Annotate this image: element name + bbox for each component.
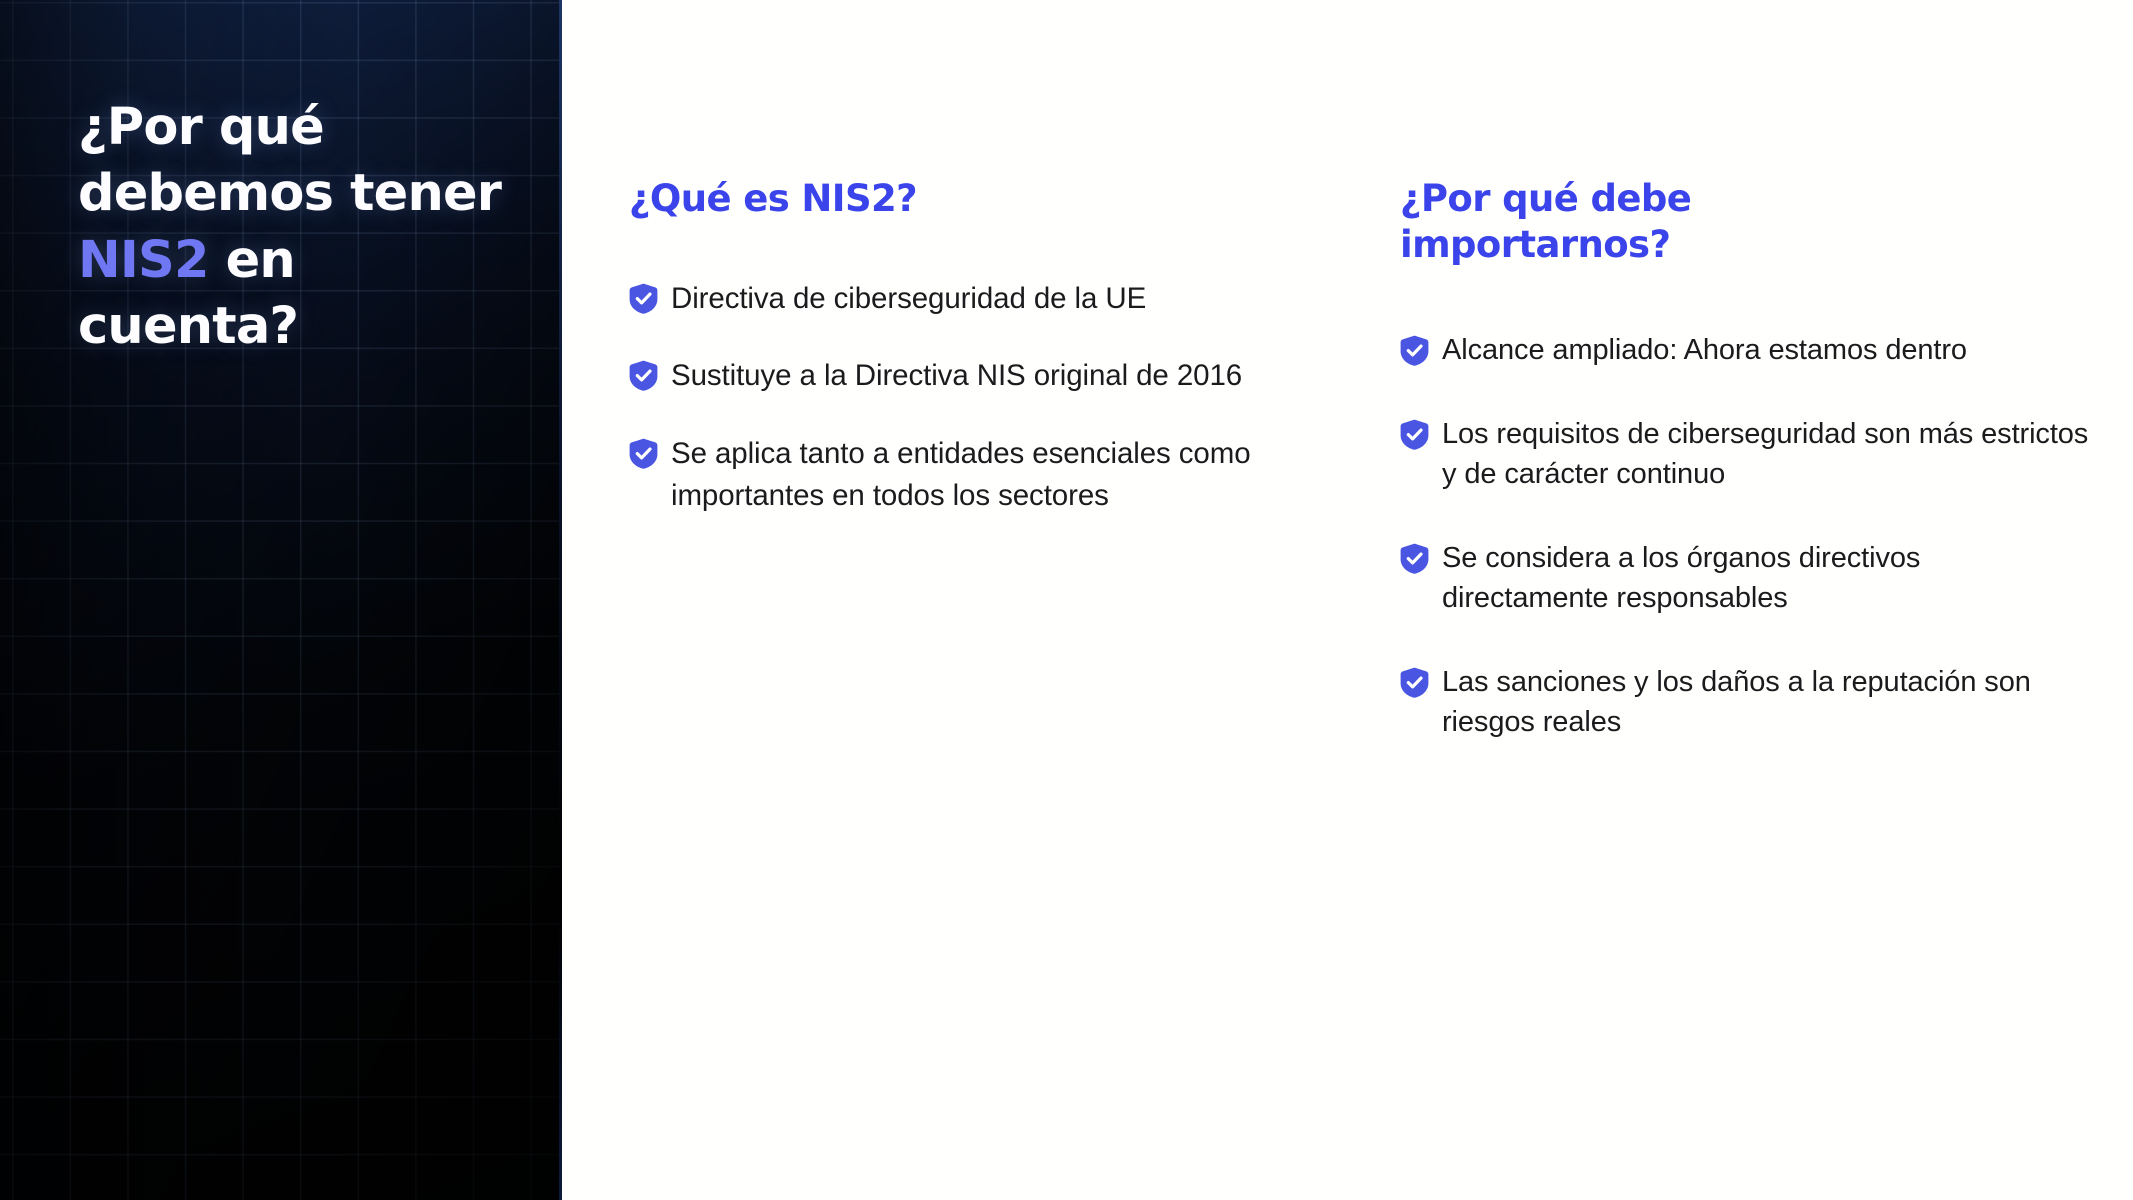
list-item-label: Alcance ampliado: Ahora estamos dentro <box>1442 330 1967 370</box>
page-title-highlight: NIS2 <box>78 231 209 290</box>
list-item-label: Sustituye a la Directiva NIS original de… <box>671 355 1242 397</box>
list-item: Las sanciones y los daños a la reputació… <box>1400 662 2100 742</box>
list-item-label: Se aplica tanto a entidades esenciales c… <box>671 433 1329 516</box>
column-why-it-matters: ¿Por qué debe importarnos? Alcance ampli… <box>1400 176 2100 742</box>
list-item-label: Directiva de ciberseguridad de la UE <box>671 278 1146 320</box>
page-title-prefix: ¿Por qué debemos tener <box>78 98 501 223</box>
shield-check-icon <box>1400 335 1429 366</box>
list-item: Los requisitos de ciberseguridad son más… <box>1400 414 2100 494</box>
list-item-label: Las sanciones y los daños a la reputació… <box>1442 662 2092 742</box>
shield-check-icon <box>1400 543 1429 574</box>
bullet-list-why-it-matters: Alcance ampliado: Ahora estamos dentro L… <box>1400 330 2100 742</box>
column-what-is-nis2: ¿Qué es NIS2? Directiva de cibersegurida… <box>629 176 1329 516</box>
list-item: Directiva de ciberseguridad de la UE <box>629 278 1329 320</box>
list-item-label: Los requisitos de ciberseguridad son más… <box>1442 414 2092 494</box>
slide: ¿Por qué debemos tener NIS2 en cuenta? ¿… <box>0 0 2133 1200</box>
list-item: Alcance ampliado: Ahora estamos dentro <box>1400 330 2100 370</box>
list-item: Sustituye a la Directiva NIS original de… <box>629 355 1329 397</box>
bullet-list-what-is-nis2: Directiva de ciberseguridad de la UE Sus… <box>629 278 1329 516</box>
list-item: Se aplica tanto a entidades esenciales c… <box>629 433 1329 516</box>
page-title: ¿Por qué debemos tener NIS2 en cuenta? <box>78 95 530 360</box>
column-heading-why-it-matters: ¿Por qué debe importarnos? <box>1400 176 1770 268</box>
shield-check-icon <box>629 360 658 391</box>
list-item-label: Se considera a los órganos directivos di… <box>1442 538 2092 618</box>
list-item: Se considera a los órganos directivos di… <box>1400 538 2100 618</box>
shield-check-icon <box>1400 667 1429 698</box>
column-heading-what-is-nis2: ¿Qué es NIS2? <box>629 176 1329 222</box>
shield-check-icon <box>629 283 658 314</box>
shield-check-icon <box>1400 419 1429 450</box>
shield-check-icon <box>629 438 658 469</box>
content-area: ¿Qué es NIS2? Directiva de cibersegurida… <box>562 0 2133 1200</box>
left-title-panel: ¿Por qué debemos tener NIS2 en cuenta? <box>0 0 562 1200</box>
